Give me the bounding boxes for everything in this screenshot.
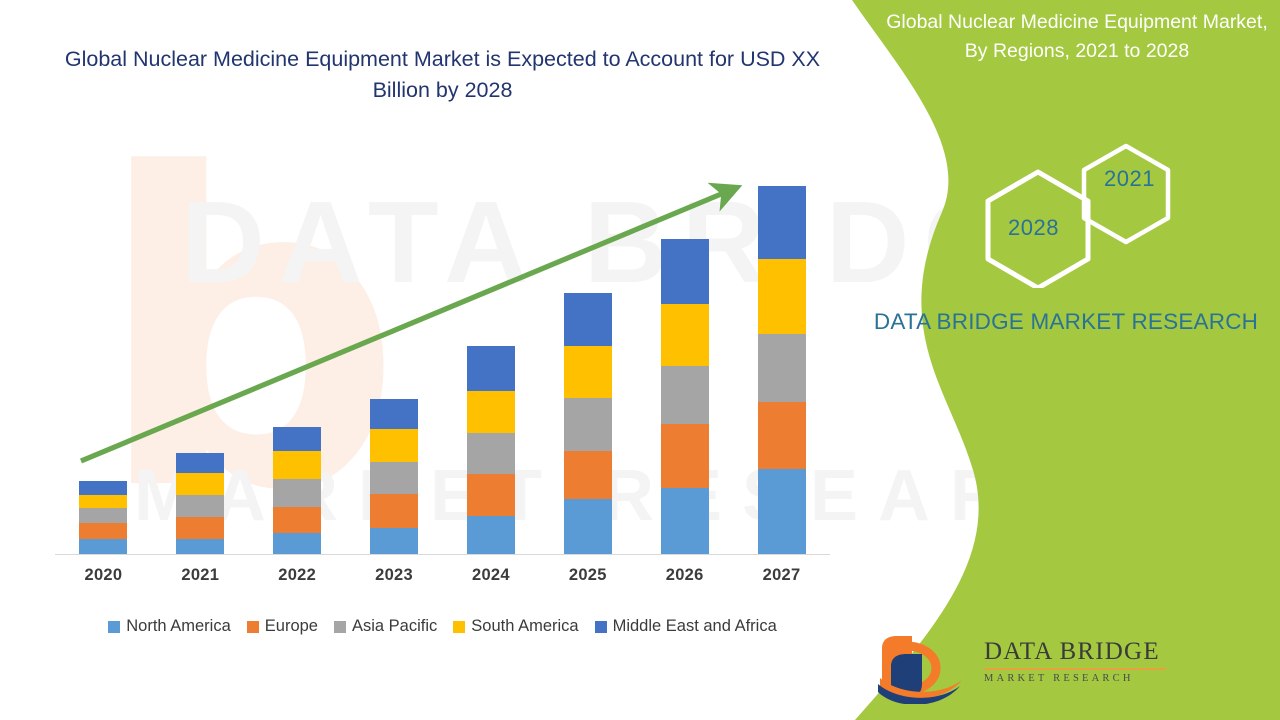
bar-segment	[467, 433, 515, 474]
bar-segment	[273, 427, 321, 451]
bar-segment	[661, 366, 709, 424]
data-bridge-logo: DATA BRIDGE MARKET RESEARCH	[876, 628, 1176, 704]
bar-segment	[176, 517, 224, 539]
x-axis-label-2024: 2024	[443, 566, 539, 585]
legend-swatch-icon	[247, 621, 259, 633]
bar-segment	[176, 473, 224, 495]
bar-segment	[564, 499, 612, 555]
legend-label: Asia Pacific	[352, 617, 437, 636]
bar-2024	[467, 346, 515, 555]
bar-segment	[661, 304, 709, 366]
bar-segment	[661, 424, 709, 488]
bar-segment	[661, 239, 709, 304]
bar-2021	[176, 453, 224, 555]
x-axis-label-2025: 2025	[540, 566, 636, 585]
bar-segment	[758, 402, 806, 469]
bar-2026	[661, 239, 709, 555]
legend-swatch-icon	[334, 621, 346, 633]
brand-name: DATA BRIDGE MARKET RESEARCH	[866, 306, 1266, 338]
bar-segment	[564, 451, 612, 499]
legend-item-3[interactable]: South America	[453, 617, 578, 636]
logo-b-mark-icon	[876, 628, 976, 704]
bar-segment	[273, 451, 321, 479]
bar-segment	[758, 334, 806, 402]
legend-swatch-icon	[453, 621, 465, 633]
bar-segment	[370, 429, 418, 462]
bar-2025	[564, 293, 612, 555]
legend-item-1[interactable]: Europe	[247, 617, 318, 636]
bar-2023	[370, 399, 418, 555]
legend-label: South America	[471, 617, 578, 636]
logo-primary-text: DATA BRIDGE	[984, 638, 1184, 666]
bar-segment	[79, 495, 127, 508]
x-axis-labels: 20202021202220232024202520262027	[55, 566, 830, 594]
hexagon-label-2021: 2021	[1104, 166, 1155, 192]
legend-item-2[interactable]: Asia Pacific	[334, 617, 437, 636]
bar-segment	[370, 528, 418, 555]
bar-segment	[758, 469, 806, 555]
bar-segment	[758, 186, 806, 259]
bar-segment	[273, 479, 321, 507]
bar-segment	[467, 346, 515, 391]
bar-2022	[273, 427, 321, 555]
legend-item-0[interactable]: North America	[108, 617, 231, 636]
x-axis-label-2020: 2020	[55, 566, 151, 585]
bar-segment	[273, 507, 321, 533]
chart-legend: North AmericaEuropeAsia PacificSouth Ame…	[55, 617, 830, 636]
x-axis-line	[55, 554, 830, 555]
legend-swatch-icon	[108, 621, 120, 633]
bar-segment	[467, 516, 515, 555]
logo-rule	[984, 668, 1166, 670]
hexagon-2021-shape	[1084, 146, 1168, 242]
bar-segment	[370, 494, 418, 528]
bar-segment	[79, 508, 127, 523]
hexagon-label-2028: 2028	[1008, 215, 1059, 241]
x-axis-label-2021: 2021	[152, 566, 248, 585]
bar-segment	[370, 399, 418, 429]
legend-label: North America	[126, 617, 231, 636]
bar-segment	[467, 391, 515, 433]
logo-secondary-text: MARKET RESEARCH	[984, 673, 1184, 684]
bar-segment	[564, 346, 612, 398]
legend-label: Europe	[265, 617, 318, 636]
bar-segment	[273, 533, 321, 555]
bar-segment	[79, 523, 127, 539]
hexagon-outlines-icon	[976, 128, 1196, 288]
bar-segment	[79, 481, 127, 495]
chart-title: Global Nuclear Medicine Equipment Market…	[40, 44, 845, 106]
bar-segment	[758, 259, 806, 334]
bar-2027	[758, 186, 806, 555]
bar-segment	[79, 539, 127, 555]
x-axis-label-2027: 2027	[734, 566, 830, 585]
bar-segment	[176, 539, 224, 555]
bar-segment	[564, 398, 612, 451]
bar-2020	[79, 481, 127, 555]
side-panel-content: Global Nuclear Medicine Equipment Market…	[846, 0, 1280, 720]
bar-segment	[564, 293, 612, 346]
stacked-bar-group	[55, 150, 830, 555]
bar-segment	[661, 488, 709, 555]
bar-segment	[176, 495, 224, 517]
legend-label: Middle East and Africa	[613, 617, 777, 636]
x-axis-label-2023: 2023	[346, 566, 442, 585]
hexagon-group: 2021 2028	[976, 128, 1196, 288]
infographic-canvas: b DATA BRIDGE MARKET RESEARCH Global Nuc…	[0, 0, 1280, 720]
legend-item-4[interactable]: Middle East and Africa	[595, 617, 777, 636]
bar-segment	[370, 462, 418, 494]
logo-text-block: DATA BRIDGE MARKET RESEARCH	[984, 638, 1184, 684]
side-panel-title: Global Nuclear Medicine Equipment Market…	[874, 8, 1280, 67]
bar-segment	[176, 453, 224, 473]
x-axis-label-2022: 2022	[249, 566, 345, 585]
bar-segment	[467, 474, 515, 516]
legend-swatch-icon	[595, 621, 607, 633]
x-axis-label-2026: 2026	[637, 566, 733, 585]
